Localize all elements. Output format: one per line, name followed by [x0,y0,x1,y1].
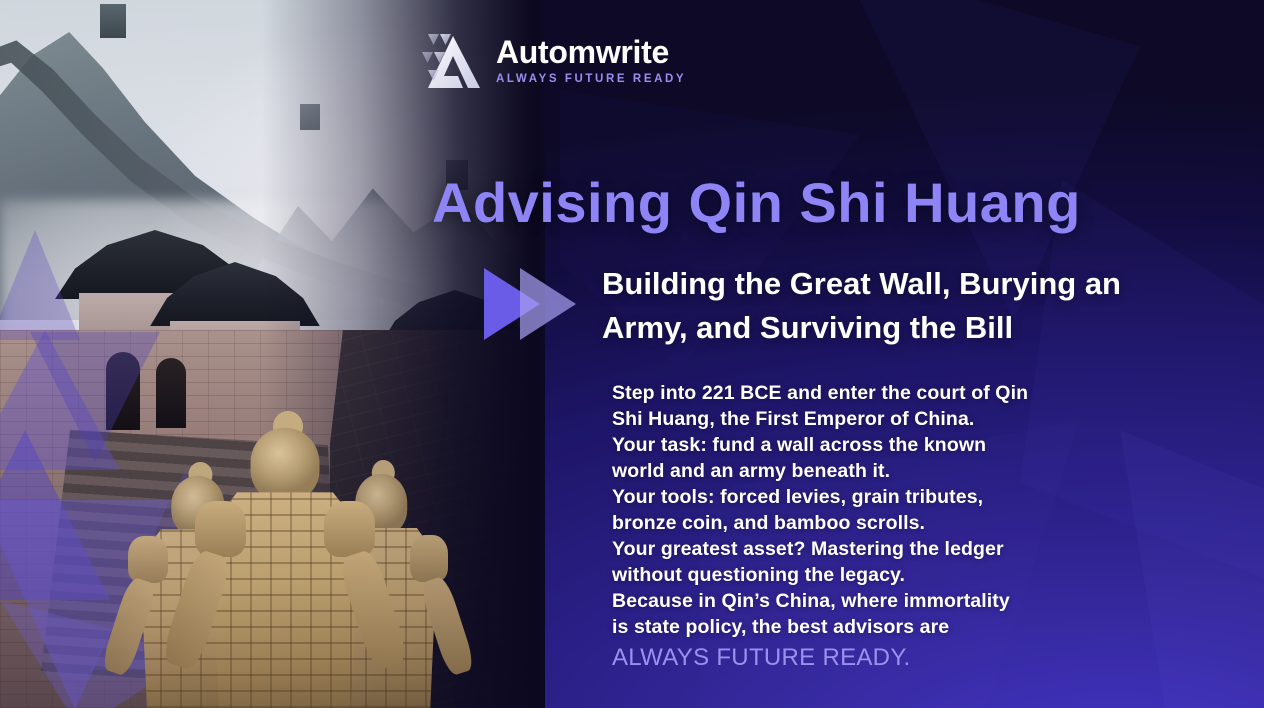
brand-logo-text: Automwrite ALWAYS FUTURE READY [496,36,686,86]
subheadline-row: Building the Great Wall, Burying an Army… [484,262,1202,350]
body-line: Step into 221 BCE and enter the court of… [612,380,1082,406]
brand-name: Automwrite [496,36,686,68]
warrior-shoulder [324,501,375,557]
body-line: Your tools: forced levies, grain tribute… [612,484,1082,510]
body-line: bronze coin, and bamboo scrolls. [612,510,1082,536]
warrior-shoulder [128,536,167,582]
body-line: world and an army beneath it. [612,458,1082,484]
warrior-shoulder [410,535,448,582]
brand-tagline: ALWAYS FUTURE READY [496,74,686,86]
body-line: is state policy, the best advisors are [612,614,1082,640]
body-line: Because in Qin’s China, where immortalit… [612,588,1082,614]
double-play-arrow-icon [484,268,576,340]
hero-image [0,0,545,708]
presentation-slide: Automwrite ALWAYS FUTURE READY Advising … [0,0,1264,708]
body-line: Shi Huang, the First Emperor of China. [612,406,1082,432]
automwrite-triangle-a-logo-icon [420,30,482,92]
body-line: Your greatest asset? Mastering the ledge… [612,536,1082,562]
photo-right-fade [521,0,545,708]
body-line: Your task: fund a wall across the known [612,432,1082,458]
play-arrow-ghost [520,268,576,340]
warrior-head [251,428,320,501]
brand-logo[interactable]: Automwrite ALWAYS FUTURE READY [420,30,686,92]
page-title: Advising Qin Shi Huang [432,170,1081,235]
subheadline: Building the Great Wall, Burying an Army… [602,262,1202,350]
body-line: without questioning the legacy. [612,562,1082,588]
body-copy: Step into 221 BCE and enter the court of… [612,380,1082,672]
terracotta-warrior [210,428,360,708]
warrior-shoulder [195,501,246,557]
closing-tagline: ALWAYS FUTURE READY. [612,644,1082,672]
